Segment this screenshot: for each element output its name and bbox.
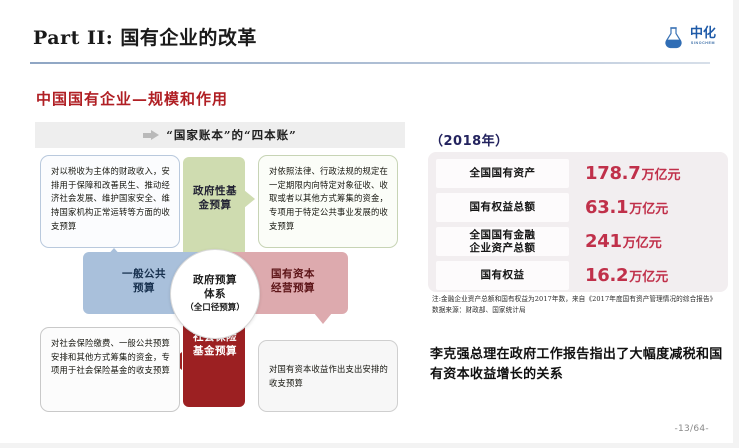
stat-unit: 万亿元 [641,164,680,183]
callout-state-capital-operating-budget: 对国有资本收益作出支出安排的收支预算 [258,340,398,412]
slide-canvas: Part II: 国有企业的改革 中化 SINOCHEM 中国国有企业—规模和作… [0,0,739,448]
logo-chinese: 中化 [690,27,716,40]
flask-icon [661,24,686,49]
conclusion-text: 李克强总理在政府工作报告指出了大幅度减税和国有资本收益增长的关系 [430,345,728,384]
stat-value-cell: 178.7 万亿元 [569,163,720,184]
stat-value-cell: 16.2 万亿元 [569,265,720,286]
table-row: 全国国有资产 178.7 万亿元 [436,158,720,189]
diagram-banner-label: “国家账本”的“四本账” [166,127,296,143]
stat-value: 16.2 [585,265,628,286]
stats-year-label: （2018年） [430,130,509,149]
stat-unit: 万亿元 [623,232,662,251]
label-line-2: 金预算 [188,198,242,212]
pointer-state-capital-operating-budget [314,313,332,324]
table-row: 国有权益总额 63.1 万亿元 [436,192,720,223]
logo-english: SINOCHEM [691,42,715,46]
stat-label: 全国国有金融 企业资产总额 [436,227,569,256]
callout-government-fund-budget: 对依照法律、行政法规的规定在一定期限内向特定对象征收、收取或者以其他方式筹集的资… [258,155,398,248]
center-line-3: （全口径预算） [185,303,245,314]
stat-label: 国有权益 [436,261,569,290]
section-title: 中国国有企业—规模和作用 [36,88,228,109]
label-line-2: 预算 [113,281,175,295]
label-line-1: 国有资本 [262,267,324,281]
center-line-2: 体系 [204,288,226,302]
bottom-edge-strip [0,443,739,448]
brand-logo: 中化 SINOCHEM [661,24,716,49]
stat-unit: 万亿元 [629,266,668,285]
stat-label-line-1: 国有权益 [481,269,525,281]
stats-footnote: 注:金融企业资产总额和国有权益为2017年数，来自《2017年度国有资产管理情况… [432,294,728,315]
pointer-general-public-budget [105,248,123,258]
stat-label-line-2: 企业资产总额 [470,242,536,254]
page-title: Part II: 国有企业的改革 [33,23,257,50]
stat-value-cell: 241 万亿元 [569,231,720,252]
callout-general-public-budget: 对以税收为主体的财政收入，安排用于保障和改善民生、推动经济社会发展、维护国家安全… [40,155,180,248]
right-edge-strip [733,0,739,448]
logo-wordmark: 中化 SINOCHEM [690,27,716,46]
label-general-public-budget: 一般公共 预算 [113,267,175,295]
stat-value: 178.7 [585,163,640,184]
stat-unit: 万亿元 [629,198,668,217]
label-state-capital-operating-budget: 国有资本 经营预算 [262,267,324,295]
header-divider [30,62,710,64]
table-row: 国有权益 16.2 万亿元 [436,260,720,291]
label-line-2: 经营预算 [262,281,324,295]
center-line-1: 政府预算 [193,274,237,288]
page-number: -13/64- [674,424,709,434]
stat-label: 国有权益总额 [436,193,569,222]
arrow-right-icon [143,130,159,141]
stat-label-line-1: 国有权益总额 [470,201,536,213]
stat-label-line-1: 全国国有金融 [470,229,536,241]
footnote-source: 数据来源：财政部、国家统计局 [432,305,728,315]
budget-system-diagram: “国家账本”的“四本账” 政府性基 金预算 社会保险 基金预算 一般公共 预算 … [25,112,420,417]
label-government-fund-budget: 政府性基 金预算 [188,184,242,212]
pointer-government-fund-budget [244,190,255,208]
stat-value: 241 [585,231,622,252]
callout-social-insurance-fund-budget: 对社会保险缴费、一般公共预算安排和其他方式筹集的资金，专项用于社会保险基金的收支… [40,327,180,412]
table-row: 全国国有金融 企业资产总额 241 万亿元 [436,226,720,257]
stat-value-cell: 63.1 万亿元 [569,197,720,218]
diagram-center-node: 政府预算 体系 （全口径预算） [170,249,260,339]
footnote-text: 注:金融企业资产总额和国有权益为2017年数，来自《2017年度国有资产管理情况… [432,294,728,304]
stat-label-line-1: 全国国有资产 [470,167,536,179]
label-line-1: 一般公共 [113,267,175,281]
stat-value: 63.1 [585,197,628,218]
stat-label: 全国国有资产 [436,159,569,188]
stats-table: 全国国有资产 178.7 万亿元 国有权益总额 63.1 万亿元 全国国有金融 … [428,152,728,292]
diagram-banner: “国家账本”的“四本账” [35,122,405,148]
label-line-2: 基金预算 [188,344,242,358]
label-line-1: 政府性基 [188,184,242,198]
